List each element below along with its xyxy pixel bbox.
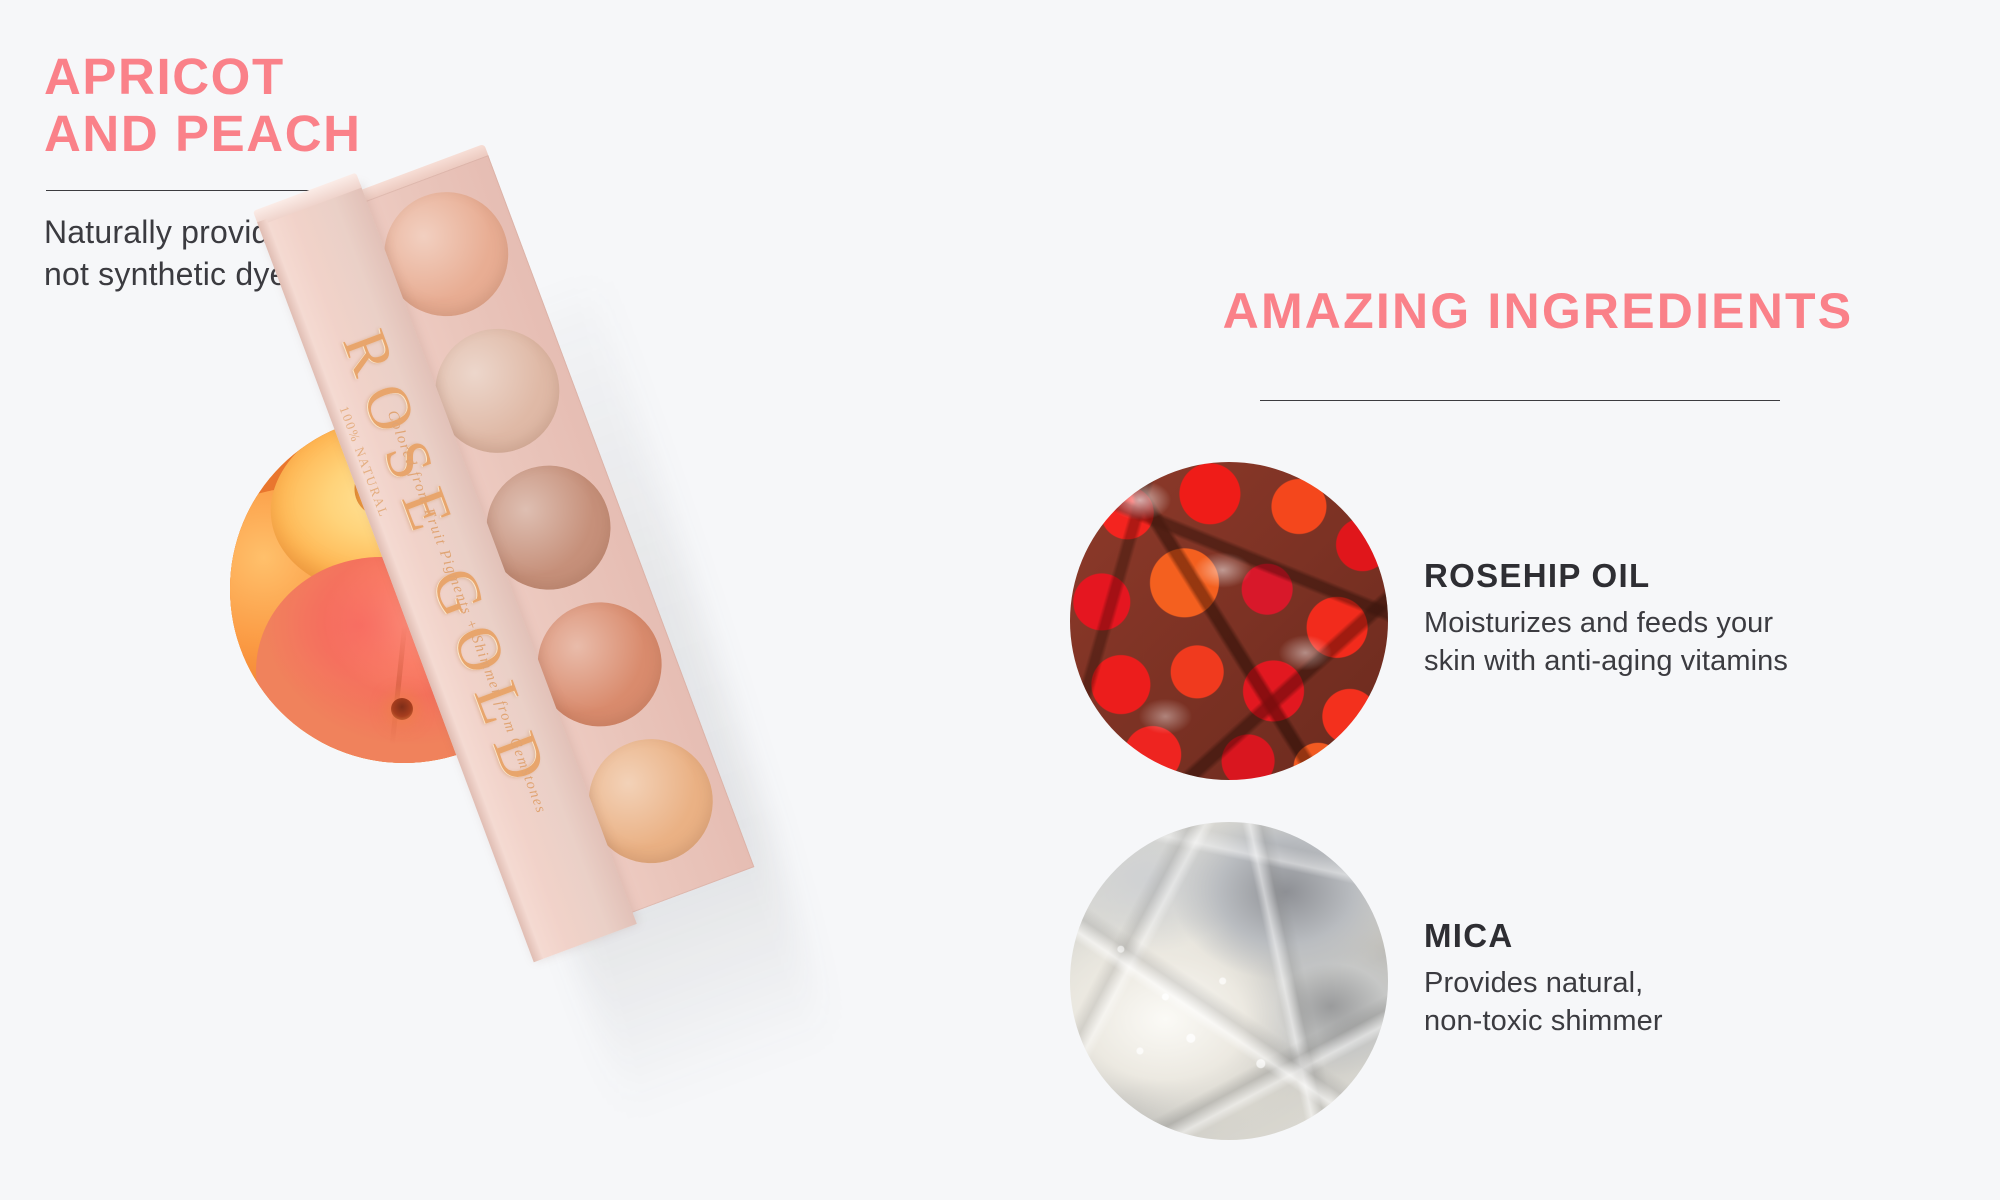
mica-photo <box>1070 822 1388 1140</box>
amazing-ingredients-section: AMAZING INGREDIENTS ROSEHIP OIL Moisturi… <box>1070 0 2000 1200</box>
mica-grain <box>1070 822 1388 1140</box>
rosehip-photo <box>1070 462 1388 780</box>
rosehip-text-block: ROSEHIP OIL Moisturizes and feeds your s… <box>1424 557 1788 684</box>
ingredients-title: AMAZING INGREDIENTS <box>1076 282 2000 340</box>
ingredient-row-rosehip-oil: ROSEHIP OIL Moisturizes and feeds your s… <box>1070 462 2000 780</box>
ingredient-description: Provides natural, non-toxic shimmer <box>1424 965 1663 1040</box>
infographic-canvas: APRICOT AND PEACH Naturally provides pig… <box>0 0 2000 1200</box>
ingredients-divider <box>1260 400 1780 401</box>
ingredient-name: MICA <box>1424 917 1663 955</box>
mica-text-block: MICA Provides natural, non-toxic shimmer <box>1424 917 1663 1044</box>
ingredient-name: ROSEHIP OIL <box>1424 557 1788 595</box>
ingredient-description: Moisturizes and feeds your skin with ant… <box>1424 605 1788 680</box>
product-scene: 100% NATURAL ROSE GOLD Colored from Frui… <box>150 130 950 1130</box>
ingredient-row-mica: MICA Provides natural, non-toxic shimmer <box>1070 822 2000 1140</box>
palette-lid-top-edge <box>253 173 362 227</box>
rosehip-highlights <box>1070 462 1388 780</box>
